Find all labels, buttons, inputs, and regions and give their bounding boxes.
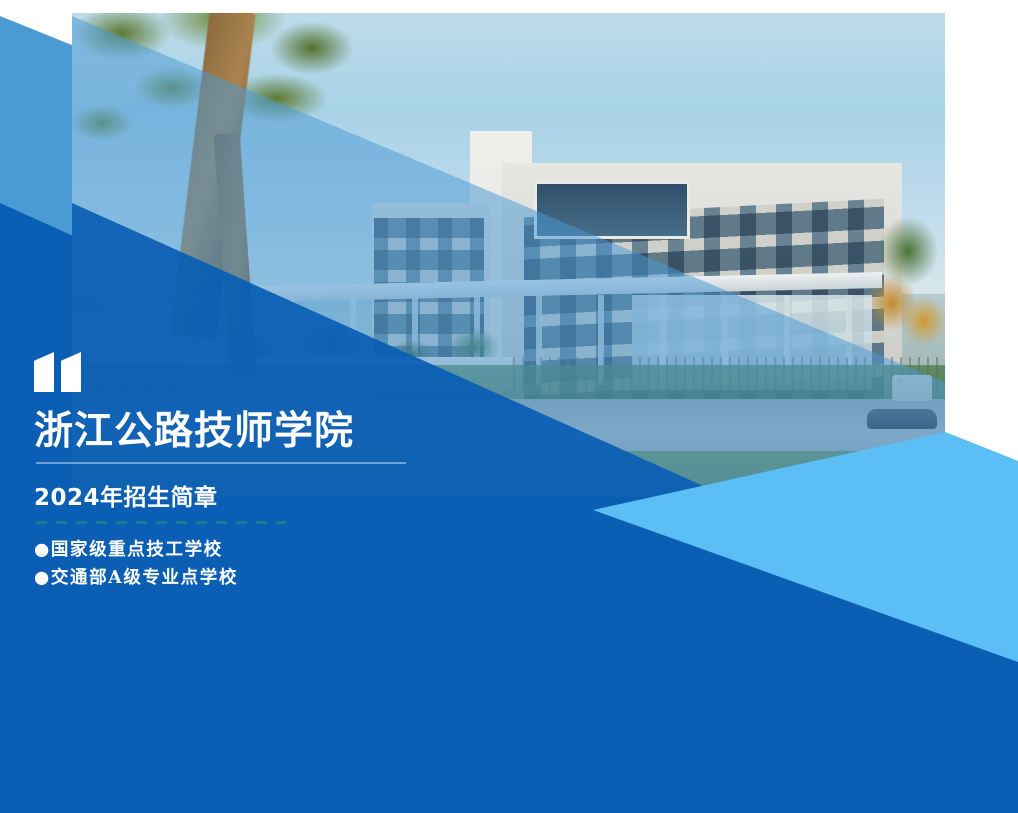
list-item: ●国家级重点技工学校 — [34, 536, 504, 564]
institution-title: 浙江公路技师学院 — [34, 410, 504, 454]
admissions-poster: 浙江公路技师学院 浙江公路技师学院 2024年招生简章 ●国家级重点技工学校 ●… — [0, 0, 1018, 813]
poster-subtitle: 2024年招生简章 — [34, 478, 504, 512]
parked-car — [867, 409, 937, 429]
quotation-mark-icon — [34, 352, 86, 392]
list-item: ●交通部A级专业点学校 — [34, 564, 504, 592]
tree-right — [862, 203, 945, 378]
poster-text-block: 浙江公路技师学院 2024年招生简章 ●国家级重点技工学校 ●交通部A级专业点学… — [34, 352, 504, 592]
building-atrium-glass — [534, 181, 690, 239]
title-underline — [36, 462, 406, 464]
subtitle-dashed-rule — [36, 521, 286, 524]
pedestrians — [892, 375, 932, 401]
quotation-mark-icon-right — [61, 352, 81, 392]
quotation-mark-icon-left — [34, 352, 54, 392]
highlights-list: ●国家级重点技工学校 ●交通部A级专业点学校 — [34, 536, 504, 593]
